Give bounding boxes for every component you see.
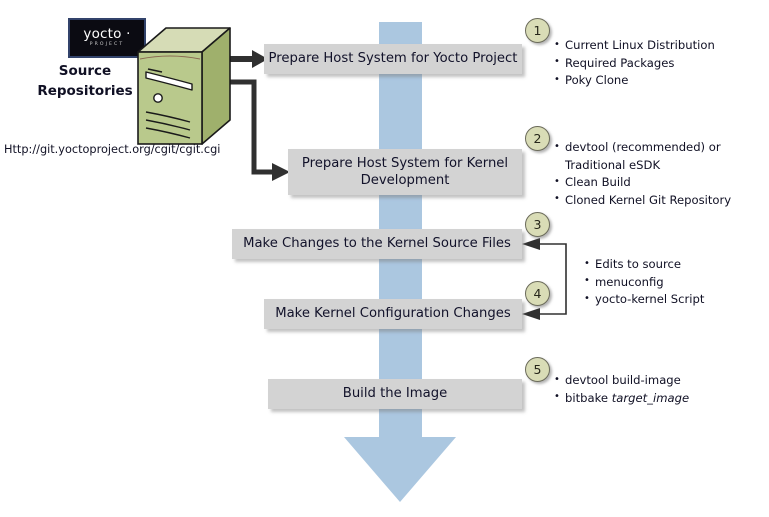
source-repositories-label-line1: Source: [20, 62, 150, 82]
process-box-step-2-line1: Prepare Host System for Kernel: [302, 155, 508, 172]
source-repositories-label-line2: Repositories: [20, 82, 150, 102]
bullet-list-step-2: devtool (recommended) or Traditional eSD…: [554, 139, 731, 209]
server-icon: [136, 26, 232, 146]
step-number-badge-5: 5: [525, 357, 550, 382]
list-item: devtool (recommended) or: [554, 139, 731, 157]
process-box-step-4[interactable]: Make Kernel Configuration Changes: [264, 299, 522, 329]
list-item: Required Packages: [554, 55, 715, 73]
process-box-step-3[interactable]: Make Changes to the Kernel Source Files: [232, 229, 522, 259]
list-item: devtool build-image: [554, 372, 689, 390]
list-item: Clean Build: [554, 174, 731, 192]
step-number-badge-4: 4: [525, 281, 550, 306]
list-item: yocto-kernel Script: [584, 291, 704, 309]
list-item: Current Linux Distribution: [554, 37, 715, 55]
logo-wordmark: yocto ·: [83, 28, 130, 42]
process-box-step-2[interactable]: Prepare Host System for Kernel Developme…: [288, 149, 522, 195]
bullet-list-steps-3-4: Edits to source menuconfig yocto-kernel …: [584, 256, 704, 309]
step-number-badge-1: 1: [525, 18, 550, 43]
list-item: Edits to source: [584, 256, 704, 274]
source-repositories-label: Source Repositories: [20, 62, 150, 101]
list-item: Poky Clone: [554, 72, 715, 90]
bullet-list-step-1: Current Linux Distribution Required Pack…: [554, 37, 715, 90]
bullet-list-step-5: devtool build-image bitbake target_image: [554, 372, 689, 407]
yocto-project-logo: yocto · PROJECT: [68, 18, 146, 58]
list-item-continuation: Traditional eSDK: [554, 157, 731, 175]
logo-subtitle: PROJECT: [90, 43, 125, 48]
step-number-badge-3: 3: [525, 212, 550, 237]
process-box-step-1[interactable]: Prepare Host System for Yocto Project: [264, 44, 522, 74]
process-box-step-2-line2: Development: [302, 172, 508, 189]
list-item-label: bitbake: [565, 391, 612, 405]
process-box-step-5[interactable]: Build the Image: [268, 379, 522, 409]
list-item-emphasis: target_image: [612, 391, 689, 405]
list-item: menuconfig: [584, 274, 704, 292]
step-number-badge-2: 2: [525, 126, 550, 151]
list-item: bitbake target_image: [554, 390, 689, 408]
diagram-canvas: yocto · PROJECT Source Repositories Http…: [0, 0, 769, 517]
list-item: Cloned Kernel Git Repository: [554, 192, 731, 210]
